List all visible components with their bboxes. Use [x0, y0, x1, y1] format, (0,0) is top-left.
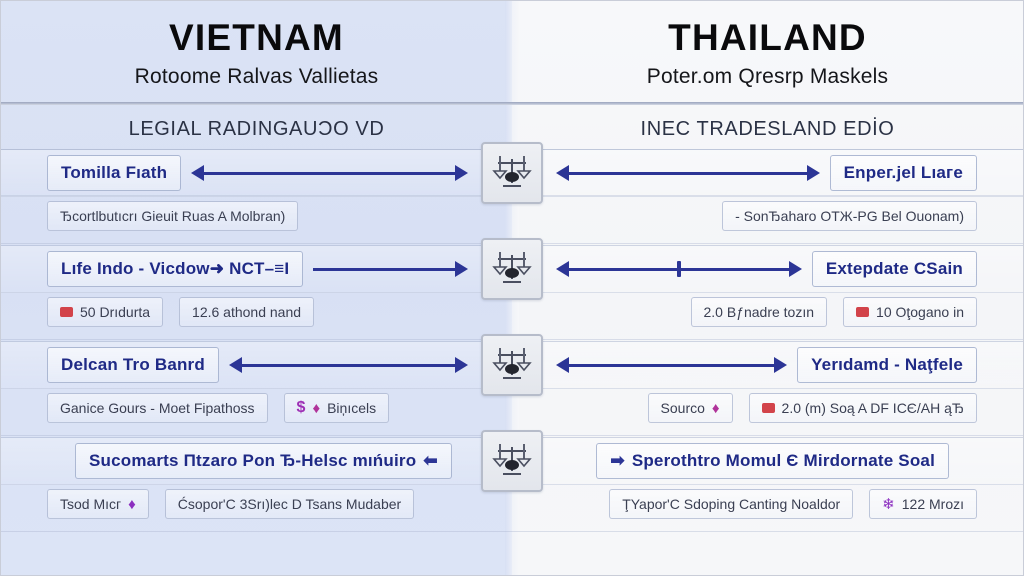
- section-title-left: LEGIAL RADINGAUƆO VD: [129, 118, 385, 141]
- section-column-right: INEC TRADESLAND EDİO: [512, 109, 1023, 149]
- row-label-text: Tomilla Fıath: [61, 163, 167, 183]
- header-subtitle-left: Rotoome Ralvas Vallietas: [135, 65, 379, 89]
- chip-row: Tsod Mıcг ♦ Ćѕopor'C 3Srı)lec D Tsans M…: [1, 487, 1023, 521]
- chip-text: Ganice Gours - Moet Fipathoss: [60, 400, 255, 416]
- chip-text: 2.0 (m) Soą A DF ICЄ/AH ąЂ: [782, 400, 964, 416]
- bidirectional-arrow-icon: [556, 163, 820, 183]
- chip-text: ŢYapor'C Sdoping Canting Noaldor: [622, 496, 840, 512]
- balance-scale-icon: [481, 238, 543, 300]
- row-label-pill-right[interactable]: Enpeг.jel Lıaгe: [830, 155, 977, 191]
- row-label-pill-right[interactable]: Yerıdamd - Naţfele: [797, 347, 977, 383]
- row-label-text: Lıfe Indo - Vicdow➜ NCT–≡Ɩ: [61, 259, 289, 279]
- purple-gem-icon: ❄: [882, 495, 895, 513]
- chip-item[interactable]: 10 Oţogano in: [843, 297, 977, 327]
- header-band: VIETNAM Rotoome Ralvas Vallietas THAILAN…: [1, 1, 1023, 103]
- chip-item[interactable]: 2.0 Bƒnadre tozın: [691, 297, 828, 327]
- row-label-text: Sperothtro Momul Є Mirdornate Soal: [632, 451, 935, 471]
- balance-scale-icon: [481, 430, 543, 492]
- chip-group-right: ŢYapor'C Sdoping Canting Noaldor ❄ 122 M…: [512, 487, 1023, 521]
- row-right-side: Yerıdamd - Naţfele: [512, 341, 1023, 389]
- row-label-pill-left[interactable]: Sucomarts Пtzaro Рon Ђ-Hеlsc mıńuiro ⬅: [75, 443, 452, 479]
- chip-text: 12.6 athond nand: [192, 304, 301, 320]
- chip-row: Ђcortlbutıcrı Gieuit Ruas A Molbran) - S…: [1, 199, 1023, 233]
- gem-icon: ♦: [128, 496, 136, 513]
- section-column-left: LEGIAL RADINGAUƆO VD: [1, 109, 512, 149]
- chip-item[interactable]: ❄ 122 Mrozı: [869, 489, 977, 519]
- red-tag-icon: [856, 307, 869, 317]
- row-left-side: Sucomarts Пtzaro Рon Ђ-Hеlsc mıńuiro ⬅: [1, 437, 512, 485]
- comparison-row: Delcan Tro Banrd Yerıdamd - Naţfele: [1, 341, 1023, 389]
- chip-text: 10 Oţogano in: [876, 304, 964, 320]
- chip-text: Tsod Mıcг: [60, 496, 121, 512]
- bidirectional-arrow-icon: [556, 259, 802, 279]
- chip-group-left: Tsod Mıcг ♦ Ćѕopor'C 3Srı)lec D Tsans M…: [1, 487, 512, 521]
- row-label-pill-left[interactable]: Tomilla Fıath: [47, 155, 181, 191]
- chip-text: - SonЂaharо OTЖ-PG Bel Ouonam): [735, 208, 964, 224]
- chip-item[interactable]: $ ♦ Biņıcels: [284, 393, 390, 423]
- right-arrow-icon: [313, 259, 468, 279]
- row-label-pill-right[interactable]: ➡ Sperothtro Momul Є Mirdornate Soal: [596, 443, 949, 479]
- chip-group-right: 2.0 Bƒnadre tozın 10 Oţogano in: [512, 295, 1023, 329]
- comparison-rows: Tomilla Fıath Enpeг.jel Lıaгe: [1, 149, 1023, 569]
- row-right-side: Enpeг.jel Lıaгe: [512, 149, 1023, 197]
- chip-text: 2.0 Bƒnadre tozın: [704, 304, 815, 320]
- comparison-row: Tomilla Fıath Enpeг.jel Lıaгe: [1, 149, 1023, 197]
- comparison-row: Lıfe Indo - Vicdow➜ NCT–≡Ɩ Extepdate CSa…: [1, 245, 1023, 293]
- chip-text: Sourco: [661, 400, 705, 416]
- header-column-left: VIETNAM Rotoome Ralvas Vallietas: [1, 1, 512, 103]
- infographic-canvas: VIETNAM Rotoome Ralvas Vallietas THAILAN…: [0, 0, 1024, 576]
- left-arrow-icon: ⬅: [423, 451, 437, 471]
- row-left-side: Lıfe Indo - Vicdow➜ NCT–≡Ɩ: [1, 245, 512, 293]
- row-right-side: ➡ Sperothtro Momul Є Mirdornate Soal: [512, 437, 1023, 485]
- chip-row: Ganice Gours - Moet Fipathoss $ ♦ Biņıce…: [1, 391, 1023, 425]
- dollar-icon: $: [297, 399, 306, 417]
- chip-text: Ćѕopor'C 3Srı)lec D Tsans Mudaber: [178, 496, 401, 512]
- chip-item[interactable]: Ćѕopor'C 3Srı)lec D Tsans Mudaber: [165, 489, 414, 519]
- red-tag-icon: [60, 307, 73, 317]
- section-title-right: INEC TRADESLAND EDİO: [641, 118, 895, 141]
- row-label-text: Delcan Tro Banrd: [61, 355, 205, 375]
- chip-group-left: Ђcortlbutıcrı Gieuit Ruas A Molbran): [1, 199, 512, 233]
- chip-item[interactable]: - SonЂaharо OTЖ-PG Bel Ouonam): [722, 201, 977, 231]
- row-label-pill-right[interactable]: Extepdate CSain: [812, 251, 977, 287]
- row-left-side: Tomilla Fıath: [1, 149, 512, 197]
- chip-group-right: Sourco ♦ 2.0 (m) Soą A DF ICЄ/AH ąЂ: [512, 391, 1023, 425]
- balance-scale-icon: [481, 142, 543, 204]
- chip-row: 50 Drıdurta 12.6 athond nand 2.0 Bƒnadre…: [1, 295, 1023, 329]
- gem-icon: ♦: [312, 400, 320, 417]
- bidirectional-arrow-icon: [556, 355, 787, 375]
- chip-item[interactable]: Tsod Mıcг ♦: [47, 489, 149, 519]
- row-label-pill-left[interactable]: Delcan Tro Banrd: [47, 347, 219, 383]
- row-label-text: Enpeг.jel Lıaгe: [844, 163, 963, 183]
- row-label-pill-left[interactable]: Lıfe Indo - Vicdow➜ NCT–≡Ɩ: [47, 251, 303, 287]
- arrow-midpoint-tick: [677, 261, 681, 277]
- chip-item[interactable]: 50 Drıdurta: [47, 297, 163, 327]
- chip-text: 122 Mrozı: [902, 496, 964, 512]
- chip-item[interactable]: 2.0 (m) Soą A DF ICЄ/AH ąЂ: [749, 393, 977, 423]
- header-subtitle-right: Poter.om Qresrp Maskels: [647, 65, 889, 89]
- chip-text: Biņıcels: [327, 400, 376, 416]
- header-divider: [1, 102, 1023, 105]
- row-left-side: Delcan Tro Banrd: [1, 341, 512, 389]
- chip-text: 50 Drıdurta: [80, 304, 150, 320]
- gem-icon: ♦: [712, 400, 720, 417]
- guide-line: [1, 531, 1023, 532]
- chip-item[interactable]: Ganice Gours - Moet Fipathoss: [47, 393, 268, 423]
- row-right-side: Extepdate CSain: [512, 245, 1023, 293]
- bidirectional-arrow-icon: [229, 355, 468, 375]
- chip-item[interactable]: ŢYapor'C Sdoping Canting Noaldor: [609, 489, 853, 519]
- chip-item[interactable]: Ђcortlbutıcrı Gieuit Ruas A Molbran): [47, 201, 298, 231]
- red-tag-icon: [762, 403, 775, 413]
- chip-text: Ђcortlbutıcrı Gieuit Ruas A Molbran): [60, 208, 285, 224]
- bidirectional-arrow-icon: [191, 163, 468, 183]
- header-column-right: THAILAND Poter.om Qresrp Maskels: [512, 1, 1023, 103]
- row-label-text: Extepdate CSain: [826, 259, 963, 279]
- chip-group-left: Ganice Gours - Moet Fipathoss $ ♦ Biņıce…: [1, 391, 512, 425]
- balance-scale-icon: [481, 334, 543, 396]
- right-arrow-icon: ➡: [610, 451, 624, 471]
- chip-group-right: - SonЂaharо OTЖ-PG Bel Ouonam): [512, 199, 1023, 233]
- header-title-right: THAILAND: [668, 19, 867, 58]
- row-label-text: Yerıdamd - Naţfele: [811, 355, 963, 375]
- chip-item[interactable]: 12.6 athond nand: [179, 297, 314, 327]
- header-title-left: VIETNAM: [169, 19, 344, 58]
- chip-item[interactable]: Sourco ♦: [648, 393, 733, 423]
- row-label-text: Sucomarts Пtzaro Рon Ђ-Hеlsc mıńuiro: [89, 451, 416, 471]
- chip-group-left: 50 Drıdurta 12.6 athond nand: [1, 295, 512, 329]
- comparison-row: Sucomarts Пtzaro Рon Ђ-Hеlsc mıńuiro ⬅ ➡…: [1, 437, 1023, 485]
